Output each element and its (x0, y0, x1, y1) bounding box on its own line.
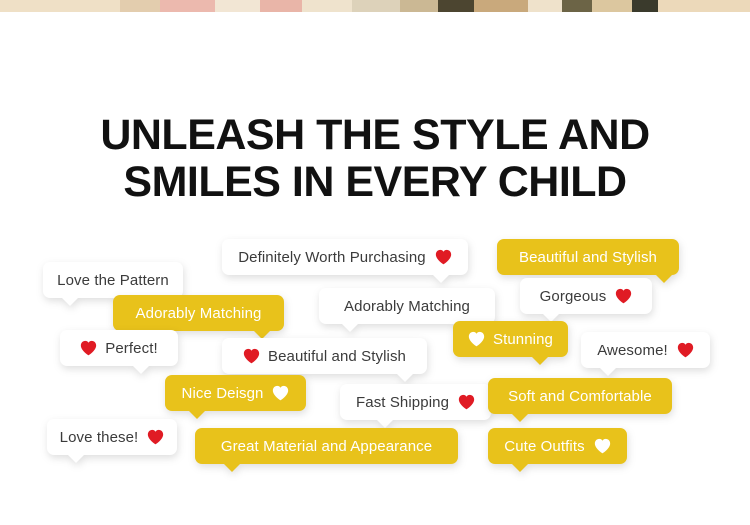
testimonial-bubble-great-material-and-appearance[interactable]: Great Material and Appearance (195, 428, 458, 464)
testimonial-label: Gorgeous (540, 288, 607, 305)
testimonial-label: Great Material and Appearance (221, 438, 432, 455)
bubble-tail (341, 323, 359, 332)
testimonial-label: Definitely Worth Purchasing (238, 249, 426, 266)
testimonial-label: Stunning (493, 331, 553, 348)
testimonial-bubble-nice-deisgn[interactable]: Nice Deisgn (165, 375, 306, 411)
testimonial-bubble-beautiful-and-stylish-yellow[interactable]: Beautiful and Stylish (497, 239, 679, 275)
testimonial-label: Adorably Matching (344, 298, 470, 315)
testimonial-bubble-cute-outfits[interactable]: Cute Outfits (488, 428, 627, 464)
heart-icon (272, 385, 289, 401)
heart-icon (615, 288, 632, 304)
testimonial-label: Adorably Matching (136, 305, 262, 322)
testimonial-label: Awesome! (597, 342, 668, 359)
bubble-tail (432, 274, 450, 283)
testimonial-label: Beautiful and Stylish (519, 249, 657, 266)
testimonial-label: Beautiful and Stylish (268, 348, 406, 365)
testimonial-bubble-cloud: Love the PatternDefinitely Worth Purchas… (0, 0, 750, 525)
testimonial-bubble-soft-and-comfortable[interactable]: Soft and Comfortable (488, 378, 672, 414)
testimonial-bubble-definitely-worth-purchasing[interactable]: Definitely Worth Purchasing (222, 239, 468, 275)
heart-icon (80, 340, 97, 356)
testimonial-label: Cute Outfits (504, 438, 584, 455)
bubble-tail (511, 463, 529, 472)
bubble-tail (61, 297, 79, 306)
testimonial-bubble-gorgeous[interactable]: Gorgeous (520, 278, 652, 314)
testimonial-label: Soft and Comfortable (508, 388, 652, 405)
heart-icon (243, 348, 260, 364)
testimonial-bubble-beautiful-and-stylish-white[interactable]: Beautiful and Stylish (222, 338, 427, 374)
heart-icon (435, 249, 452, 265)
heart-icon (594, 438, 611, 454)
bubble-tail (511, 413, 529, 422)
bubble-tail (655, 274, 673, 283)
heart-icon (458, 394, 475, 410)
testimonial-bubble-adorably-matching-yellow[interactable]: Adorably Matching (113, 295, 284, 331)
bubble-tail (67, 454, 85, 463)
bubble-tail (376, 419, 394, 428)
testimonial-bubble-love-the-pattern[interactable]: Love the Pattern (43, 262, 183, 298)
testimonial-bubble-love-these[interactable]: Love these! (47, 419, 177, 455)
bubble-tail (599, 367, 617, 376)
testimonial-label: Nice Deisgn (182, 385, 264, 402)
testimonial-label: Perfect! (105, 340, 158, 357)
testimonial-bubble-perfect[interactable]: Perfect! (60, 330, 178, 366)
heart-icon (147, 429, 164, 445)
testimonial-bubble-adorably-matching-white[interactable]: Adorably Matching (319, 288, 495, 324)
bubble-tail (531, 356, 549, 365)
bubble-tail (396, 373, 414, 382)
heart-icon (677, 342, 694, 358)
bubble-tail (188, 410, 206, 419)
testimonial-label: Love these! (60, 429, 139, 446)
testimonial-label: Love the Pattern (57, 272, 169, 289)
bubble-tail (132, 365, 150, 374)
bubble-tail (223, 463, 241, 472)
heart-icon (468, 331, 485, 347)
testimonial-bubble-fast-shipping[interactable]: Fast Shipping (340, 384, 491, 420)
testimonial-label: Fast Shipping (356, 394, 449, 411)
testimonial-bubble-awesome[interactable]: Awesome! (581, 332, 710, 368)
testimonial-bubble-stunning[interactable]: Stunning (453, 321, 568, 357)
